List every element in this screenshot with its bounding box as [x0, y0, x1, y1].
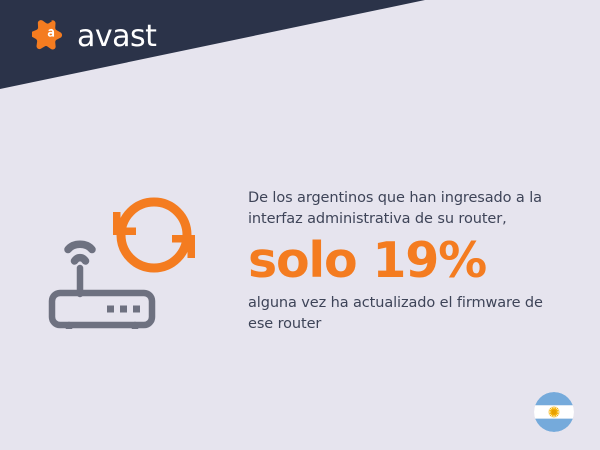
argentina-flag-badge	[534, 392, 574, 432]
avast-wordmark: avast	[77, 22, 156, 52]
illustration-group	[48, 186, 208, 331]
stat-tail-text: alguna vez ha actualizado el firmware de…	[248, 293, 548, 335]
stat-text-block: De los argentinos que han ingresado a la…	[248, 188, 548, 335]
avast-mark-icon	[32, 19, 68, 55]
infographic-canvas: avast	[0, 0, 600, 450]
avast-logo: avast	[32, 17, 156, 57]
refresh-sync-icon	[103, 186, 205, 284]
stat-lead-text: De los argentinos que han ingresado a la…	[248, 188, 548, 230]
stat-headline: solo 19%	[248, 233, 548, 289]
